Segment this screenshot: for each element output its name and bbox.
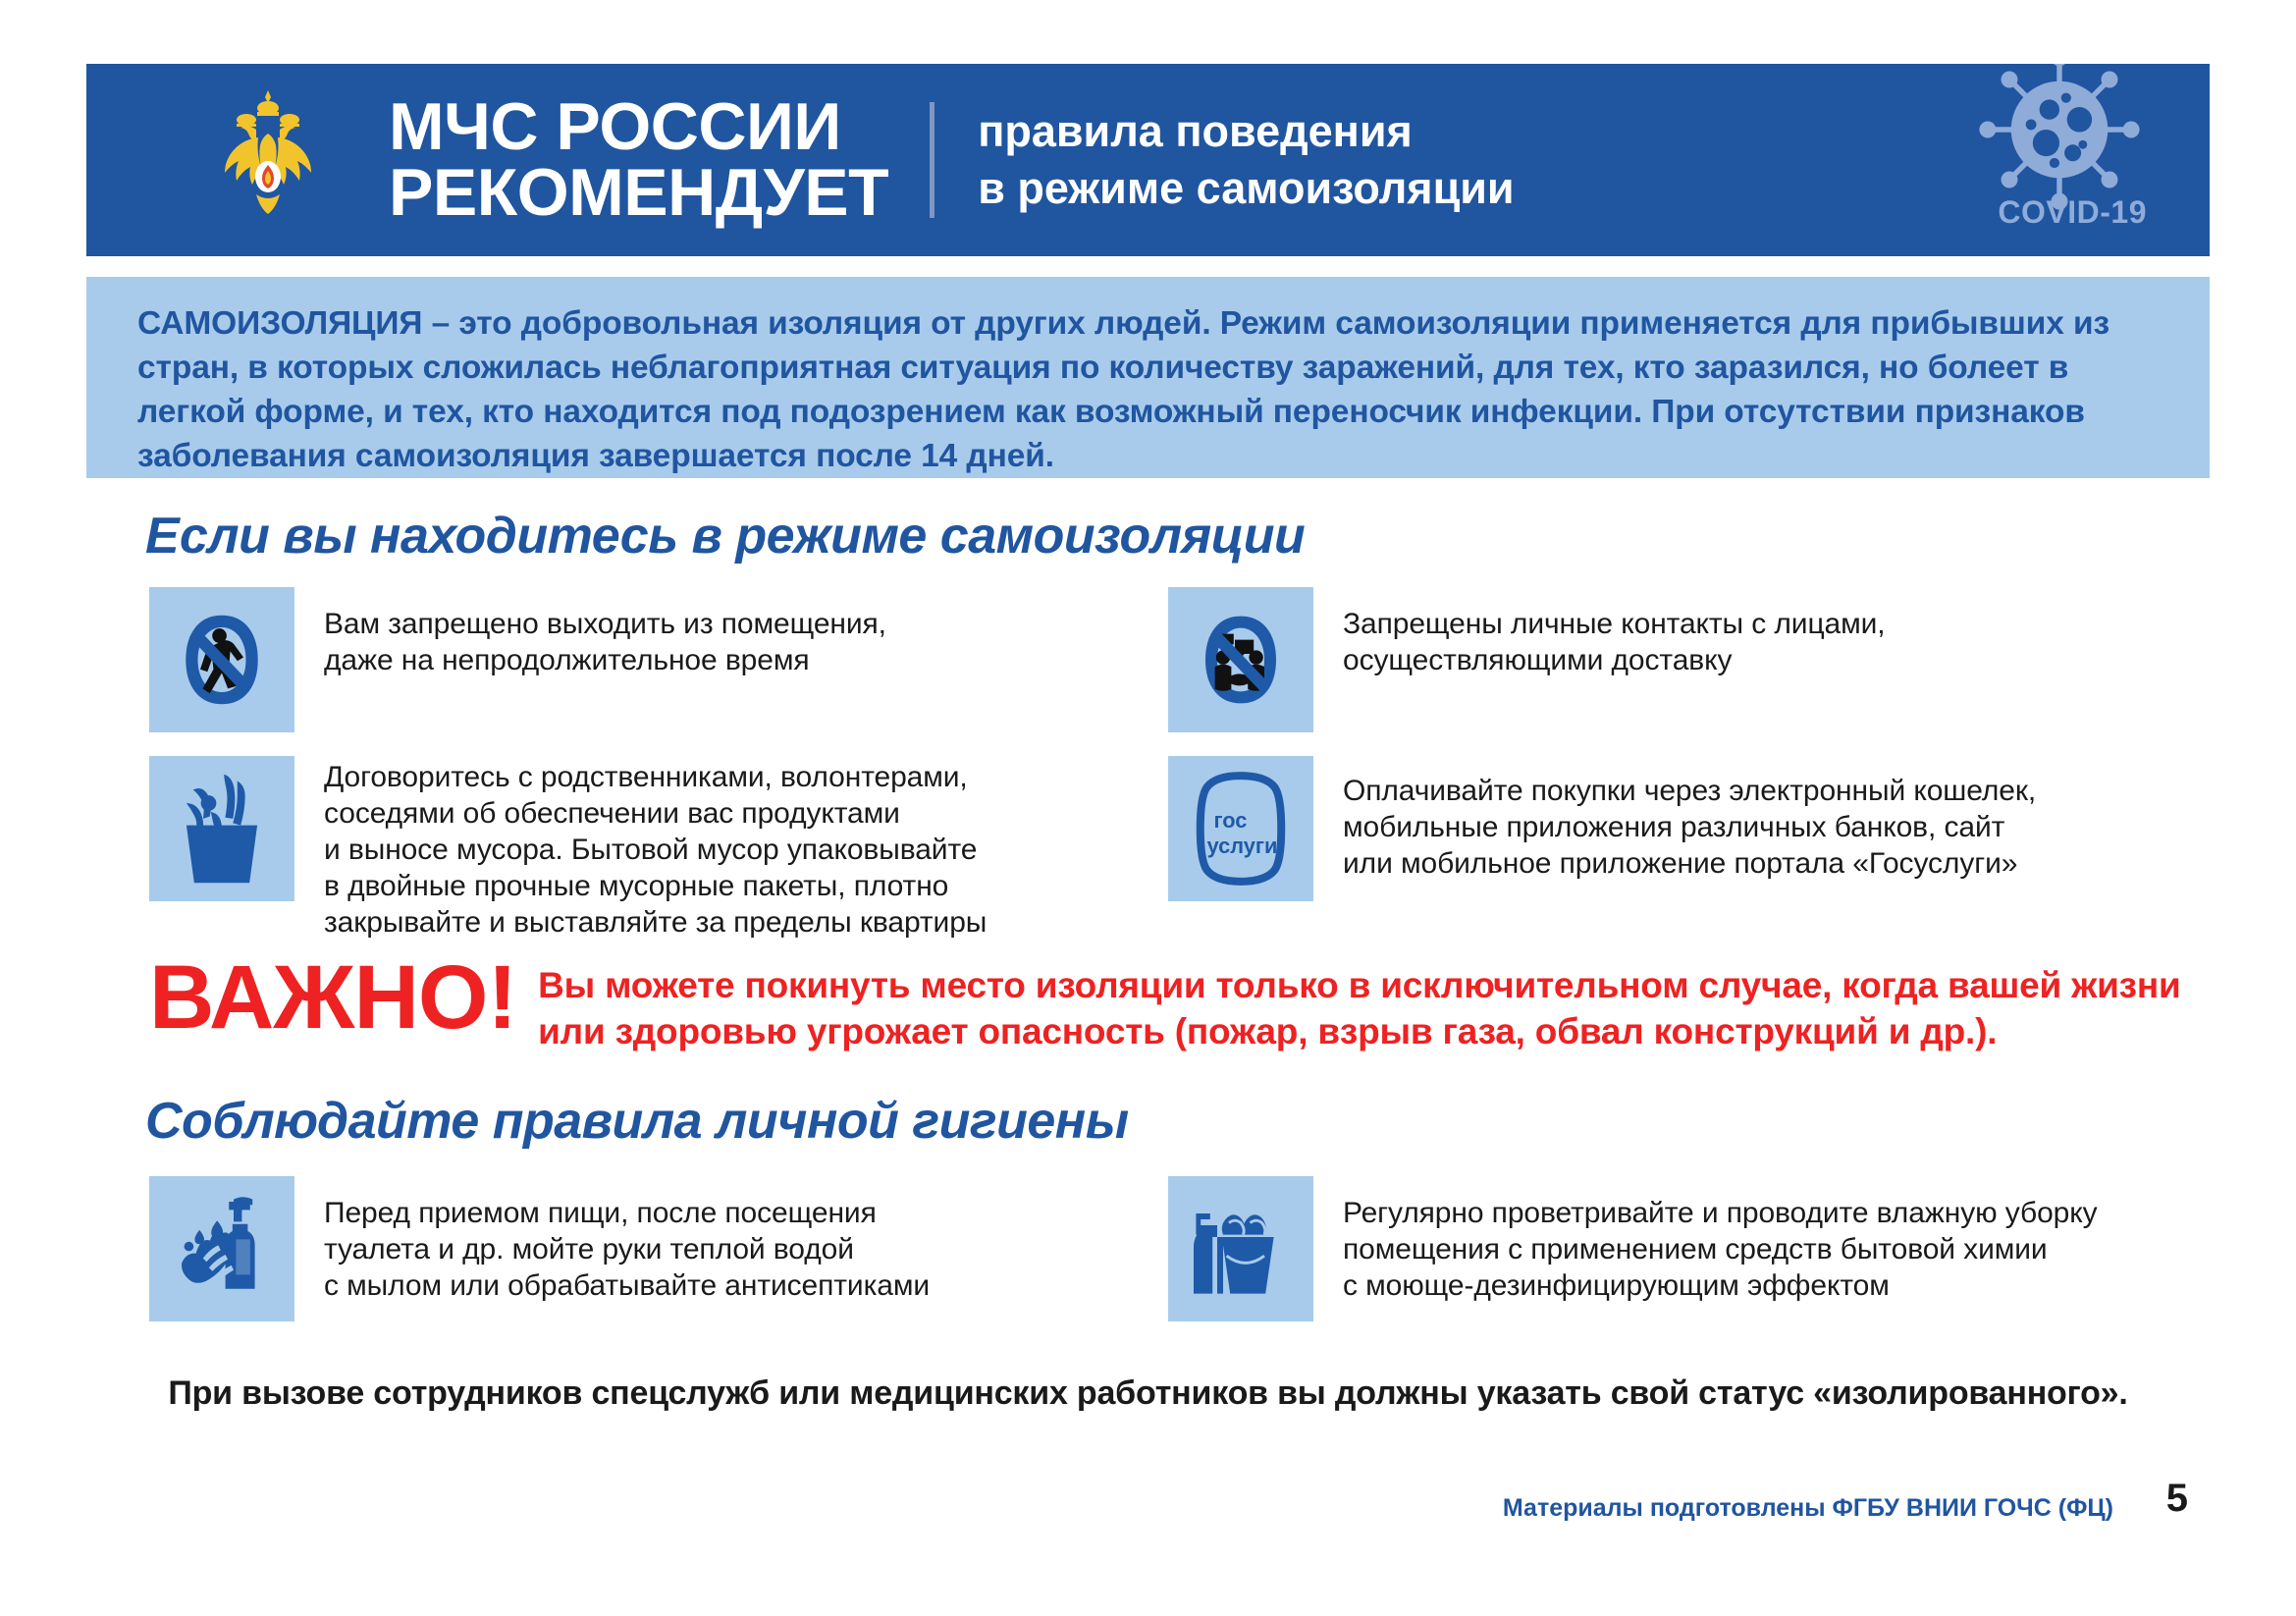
header-org-line2: РЕКОМЕНДУЕТ	[389, 160, 888, 226]
item-text: Запрещены личные контакты с лицами, осущ…	[1343, 587, 1886, 679]
item-text-line: Перед приемом пищи, после посещения	[324, 1196, 930, 1232]
item-electronic-payments: гос услуги Оплачивайте покупки через эле…	[1168, 756, 2036, 901]
item-cleaning-ventilation: Регулярно проветривайте и проводите влаж…	[1168, 1176, 2098, 1321]
item-text-line: соседями об обеспечении вас продуктами	[324, 796, 987, 833]
item-no-exit: Вам запрещено выходить из помещения, даж…	[149, 587, 886, 732]
icon-tile	[149, 1176, 294, 1321]
icon-tile	[1168, 1176, 1313, 1321]
header-subtitle-line1: правила поведения	[978, 106, 1413, 156]
item-text-line: помещения с применением средств бытовой …	[1343, 1232, 2098, 1268]
grocery-basket-icon	[165, 768, 279, 889]
poster-header: МЧС РОССИИ РЕКОМЕНДУЕТ правила поведения…	[86, 64, 2210, 256]
item-text-line: Запрещены личные контакты с лицами,	[1343, 607, 1886, 643]
handwash-icon	[163, 1190, 281, 1308]
intro-text: САМОИЗОЛЯЦИЯ – это добровольная изоляция…	[137, 302, 2172, 479]
item-no-personal-contact: Запрещены личные контакты с лицами, осущ…	[1168, 587, 1886, 732]
no-pedestrian-icon	[163, 601, 281, 719]
cleaning-supplies-icon	[1182, 1190, 1300, 1308]
important-label: ВАЖНО!	[149, 950, 516, 1041]
gosuslugi-icon: гос услуги	[1179, 767, 1303, 890]
header-subtitle-line2: в режиме самоизоляции	[978, 160, 1514, 217]
item-text-line: Договоритесь с родственниками, волонтера…	[324, 760, 987, 796]
item-text-line: и выносе мусора. Бытовой мусор упаковыва…	[324, 833, 987, 869]
section-heading-isolation: Если вы находитесь в режиме самоизоляции	[145, 507, 1305, 566]
item-text-line: закрывайте и выставляйте за пределы квар…	[324, 905, 987, 942]
coronavirus-icon	[1976, 64, 2143, 213]
gosuslugi-label-line2: услуги	[1207, 834, 1278, 858]
item-text: Перед приемом пищи, после посещения туал…	[324, 1176, 930, 1305]
header-org-title: МЧС РОССИИ РЕКОМЕНДУЕТ	[389, 94, 888, 225]
item-handwashing: Перед приемом пищи, после посещения туал…	[149, 1176, 930, 1321]
item-text: Вам запрещено выходить из помещения, даж…	[324, 587, 886, 679]
page-number: 5	[2166, 1477, 2188, 1521]
item-text: Регулярно проветривайте и проводите влаж…	[1343, 1176, 2098, 1305]
emblem-wrap	[194, 86, 342, 234]
item-text-line: осуществляющими доставку	[1343, 643, 1886, 679]
item-text-line: с мылом или обрабатывайте антисептиками	[324, 1268, 930, 1305]
header-subtitle: правила поведения в режиме самоизоляции	[978, 103, 1514, 216]
item-text-line: с моюще-дезинфицирующим эффектом	[1343, 1268, 2098, 1305]
item-supplies-and-trash: Договоритесь с родственниками, волонтера…	[149, 756, 987, 941]
item-text-line: мобильные приложения различных банков, с…	[1343, 810, 2036, 846]
header-divider	[930, 102, 934, 218]
item-text: Договоритесь с родственниками, волонтера…	[324, 756, 987, 941]
important-text-line: или здоровью угрожает опасность (пожар, …	[538, 1008, 2180, 1054]
gosuslugi-label-line1: гос	[1214, 808, 1248, 833]
item-text: Оплачивайте покупки через электронный ко…	[1343, 756, 2036, 883]
header-org-line1: МЧС РОССИИ	[389, 89, 841, 164]
important-text-line: Вы можете покинуть место изоляции только…	[538, 962, 2180, 1008]
intro-banner: САМОИЗОЛЯЦИЯ – это добровольная изоляция…	[86, 277, 2210, 478]
item-text-line: Вам запрещено выходить из помещения,	[324, 607, 886, 643]
icon-tile	[149, 587, 294, 732]
item-text-line: или мобильное приложение портала «Госусл…	[1343, 846, 2036, 883]
footer-note: При вызове сотрудников спецслужб или мед…	[0, 1374, 2296, 1413]
item-text-line: даже на непродолжительное время	[324, 643, 886, 679]
important-text: Вы можете покинуть место изоляции только…	[538, 950, 2180, 1055]
item-text-line: в двойные прочные мусорные пакеты, плотн…	[324, 869, 987, 905]
covid-label: COVID-19	[1998, 194, 2147, 231]
no-personal-contact-icon	[1182, 601, 1300, 719]
icon-tile	[149, 756, 294, 901]
poster-page: МЧС РОССИИ РЕКОМЕНДУЕТ правила поведения…	[0, 0, 2296, 1616]
important-warning: ВАЖНО! Вы можете покинуть место изоляции…	[149, 950, 2181, 1055]
section-heading-hygiene: Соблюдайте правила личной гигиены	[145, 1092, 1129, 1151]
mchs-eagle-emblem-icon	[213, 86, 323, 234]
footer-credits: Материалы подготовлены ФГБУ ВНИИ ГОЧС (Ф…	[1503, 1494, 2113, 1523]
covid-badge: COVID-19	[1878, 64, 2172, 256]
icon-tile	[1168, 587, 1313, 732]
item-text-line: Оплачивайте покупки через электронный ко…	[1343, 774, 2036, 810]
icon-tile: гос услуги	[1168, 756, 1313, 901]
item-text-line: Регулярно проветривайте и проводите влаж…	[1343, 1196, 2098, 1232]
item-text-line: туалета и др. мойте руки теплой водой	[324, 1232, 930, 1268]
